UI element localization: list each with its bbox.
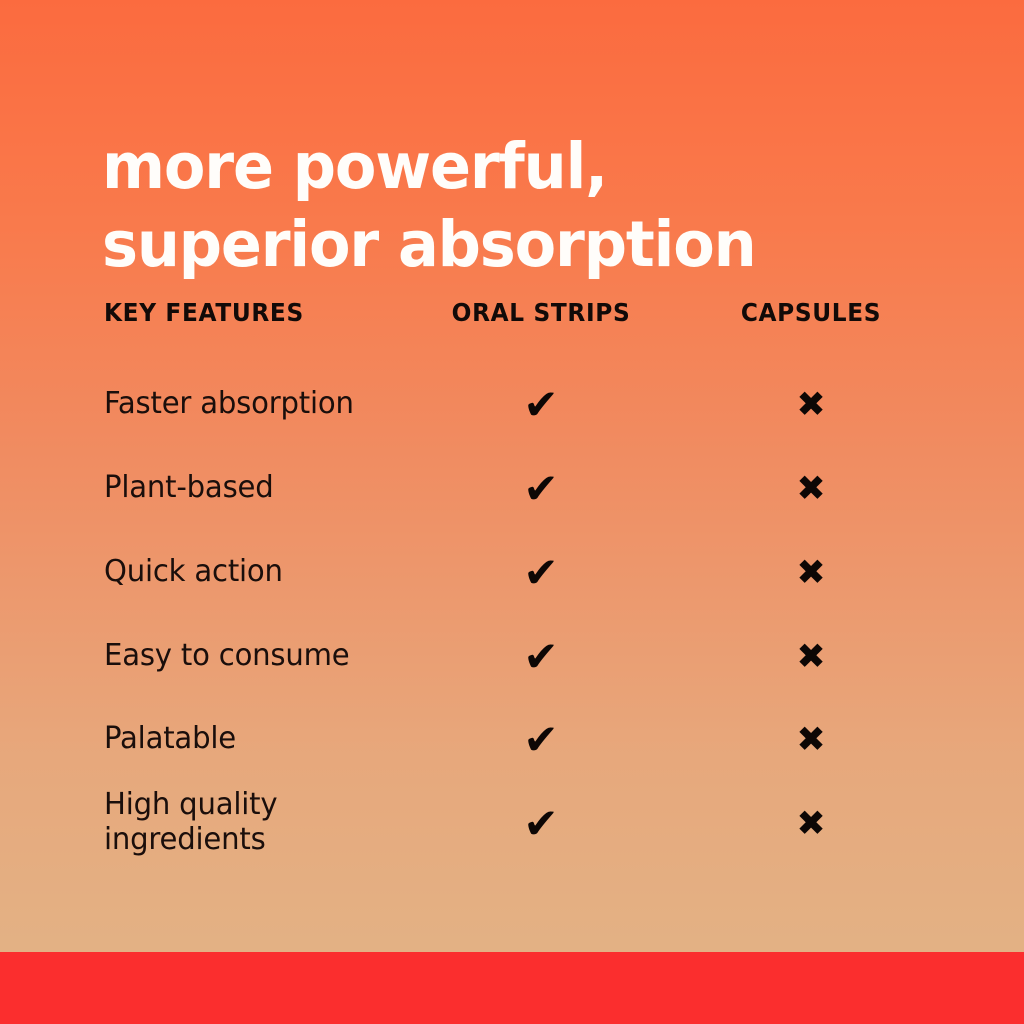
check-icon: ✔ xyxy=(511,719,571,761)
check-icon: ✔ xyxy=(511,803,571,845)
check-icon: ✔ xyxy=(511,468,571,510)
check-icon: ✔ xyxy=(511,384,571,426)
check-icon: ✔ xyxy=(511,636,571,678)
table-row-label: Faster absorption xyxy=(104,386,354,421)
cross-icon: ✖ xyxy=(781,388,841,423)
comparison-table: KEY FEATURES ORAL STRIPS CAPSULES Faster… xyxy=(0,0,1024,1024)
cross-icon: ✖ xyxy=(781,472,841,507)
column-header-key-features: KEY FEATURES xyxy=(104,298,304,327)
comparison-poster: more powerful, superior absorption KEY F… xyxy=(0,0,1024,1024)
column-header-capsules: CAPSULES xyxy=(741,298,881,327)
table-row-label: Quick action xyxy=(104,554,283,589)
cross-icon: ✖ xyxy=(781,556,841,591)
table-row-label: Easy to consume xyxy=(104,638,350,673)
column-header-oral-strips: ORAL STRIPS xyxy=(452,298,631,327)
cross-icon: ✖ xyxy=(781,640,841,675)
table-row-label: Plant-based xyxy=(104,470,274,505)
table-row-label: Palatable xyxy=(104,721,236,756)
check-icon: ✔ xyxy=(511,552,571,594)
table-row-label: High quality ingredients xyxy=(104,787,277,857)
cross-icon: ✖ xyxy=(781,807,841,842)
cross-icon: ✖ xyxy=(781,723,841,758)
bottom-accent-bar xyxy=(0,952,1024,1024)
